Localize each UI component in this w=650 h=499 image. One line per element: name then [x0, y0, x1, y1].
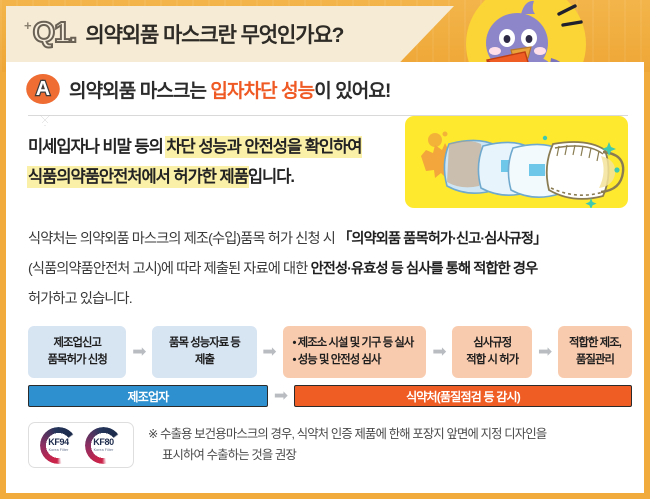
flow-step-3-bullet2: • 성능 및 안전성 심사	[293, 352, 381, 369]
flow-step-5: 적합한 제조, 품질관리	[558, 326, 632, 378]
answer-text-after: 이 있어요!	[314, 81, 390, 102]
mask-illustration-box	[405, 116, 628, 208]
kf80-sublabel: Korea Filter	[94, 448, 114, 452]
flow-arrow-5-icon: ➡	[268, 385, 294, 407]
flow-step-1-line1: 제조업신고	[53, 335, 100, 352]
para-line2-a: (식품의약품안전처 고시)에 따라 제출된 자료에 대한	[28, 261, 311, 277]
answer-badge-icon: A	[28, 74, 58, 104]
para-line1-a: 식약처는 의약외품 마스크의 제조(수입)품목 허가 신청 시	[28, 231, 338, 247]
para-line3: 허가하고 있습니다.	[28, 291, 132, 307]
kf80-label: KF80	[93, 438, 113, 447]
flow-actor-manufacturer: 제조업자	[28, 385, 268, 407]
footer-note-line2: 표시하여 수출하는 것을 권장	[148, 445, 546, 466]
answer-text-highlight: 입자차단 성능	[210, 81, 314, 102]
para-line1-b: 「의약외품 품목허가·신고·심사규정」	[338, 231, 546, 247]
kf94-badge-icon: KF94 Korea Filter	[40, 427, 77, 464]
flow-arrow-3-icon: ➡	[426, 326, 452, 378]
plus-icon: +	[24, 18, 32, 33]
question-ribbon: + Q1. 의약외품 마스크란 무엇인가요?	[6, 6, 454, 62]
flow-step-4: 심사규정 적합 시 허가	[452, 326, 532, 378]
flow-step-2-line2: 제출	[195, 352, 214, 369]
footer-note: ※ 수출용 보건용마스크의 경우, 식약처 인증 제품에 한해 포장지 앞면에 …	[148, 424, 546, 466]
flow-step-3: • 제조소 시설 및 기구 등 실사 • 성능 및 안전성 심사	[283, 326, 427, 378]
lead-highlight-2: 식품의약품안전처에서 허가한 제품	[28, 167, 248, 187]
flow-step-4-line1: 심사규정	[473, 335, 511, 352]
flow-actor-mfds: 식약처(품질점검 등 감시)	[294, 385, 632, 407]
lead-highlight-1: 차단 성능과 안전성을 확인하여	[166, 137, 361, 157]
flow-actor-row: 제조업자 ➡ 식약처(품질점검 등 감시)	[28, 385, 632, 407]
para-line2-b: 안전성·유효성 등 심사를 통해 적합한 경우	[311, 261, 538, 277]
kf94-sublabel: Korea Filter	[49, 448, 69, 452]
flow-step-5-line1: 적합한 제조,	[569, 335, 621, 352]
question-title: 의약외품 마스크란 무엇인가요?	[85, 19, 343, 49]
footer-note-row: KF94 Korea Filter KF80 Korea Filter ※ 수출…	[28, 422, 632, 468]
lead-plain-1: 미세입자나 비말 등의	[28, 138, 166, 156]
body-paragraph: 식약처는 의약외품 마스크의 제조(수입)품목 허가 신청 시 「의약외품 품목…	[28, 224, 632, 314]
answer-text-before: 의약외품 마스크는	[69, 81, 210, 102]
flow-step-1: 제조업신고 품목허가 신청	[28, 326, 126, 378]
divider-chevron-icon	[34, 115, 56, 126]
kf-badge-group: KF94 Korea Filter KF80 Korea Filter	[28, 422, 134, 468]
lead-plain-2: 입니다.	[248, 168, 294, 186]
question-number: Q1.	[33, 19, 77, 50]
flow-arrow-1-icon: ➡	[126, 326, 152, 378]
flow-step-4-line2: 적합 시 허가	[466, 352, 518, 369]
layered-mask-icon	[405, 116, 628, 208]
answer-text: 의약외품 마스크는 입자차단 성능이 있어요!	[69, 76, 390, 103]
flow-step-2-line1: 품목 성능자료 등	[169, 335, 240, 352]
content-card: A 의약외품 마스크는 입자차단 성능이 있어요! 미세입자나 비말 등의 차단…	[6, 62, 644, 493]
flow-arrow-4-icon: ➡	[532, 326, 558, 378]
flow-step-3-bullet1: • 제조소 시설 및 기구 등 실사	[293, 335, 414, 352]
answer-row: A 의약외품 마스크는 입자차단 성능이 있어요!	[28, 74, 390, 104]
process-flow-chart: 제조업신고 품목허가 신청 ➡ 품목 성능자료 등 제출 ➡ • 제조소 시설 …	[28, 326, 632, 407]
flow-step-row: 제조업신고 품목허가 신청 ➡ 품목 성능자료 등 제출 ➡ • 제조소 시설 …	[28, 326, 632, 378]
lead-statement: 미세입자나 비말 등의 차단 성능과 안전성을 확인하여식품의약품안전처에서 허…	[28, 132, 406, 192]
answer-badge-letter: A	[36, 79, 50, 99]
infographic-page: + Q1. 의약외품 마스크란 무엇인가요?	[0, 0, 650, 499]
flow-step-5-line2: 품질관리	[576, 352, 614, 369]
flow-arrow-2-icon: ➡	[257, 326, 283, 378]
kf80-badge-icon: KF80 Korea Filter	[85, 427, 122, 464]
kf94-label: KF94	[48, 438, 68, 447]
footer-note-line1: ※ 수출용 보건용마스크의 경우, 식약처 인증 제품에 한해 포장지 앞면에 …	[148, 427, 546, 441]
flow-step-2: 품목 성능자료 등 제출	[152, 326, 256, 378]
flow-step-1-line2: 품목허가 신청	[48, 352, 107, 369]
